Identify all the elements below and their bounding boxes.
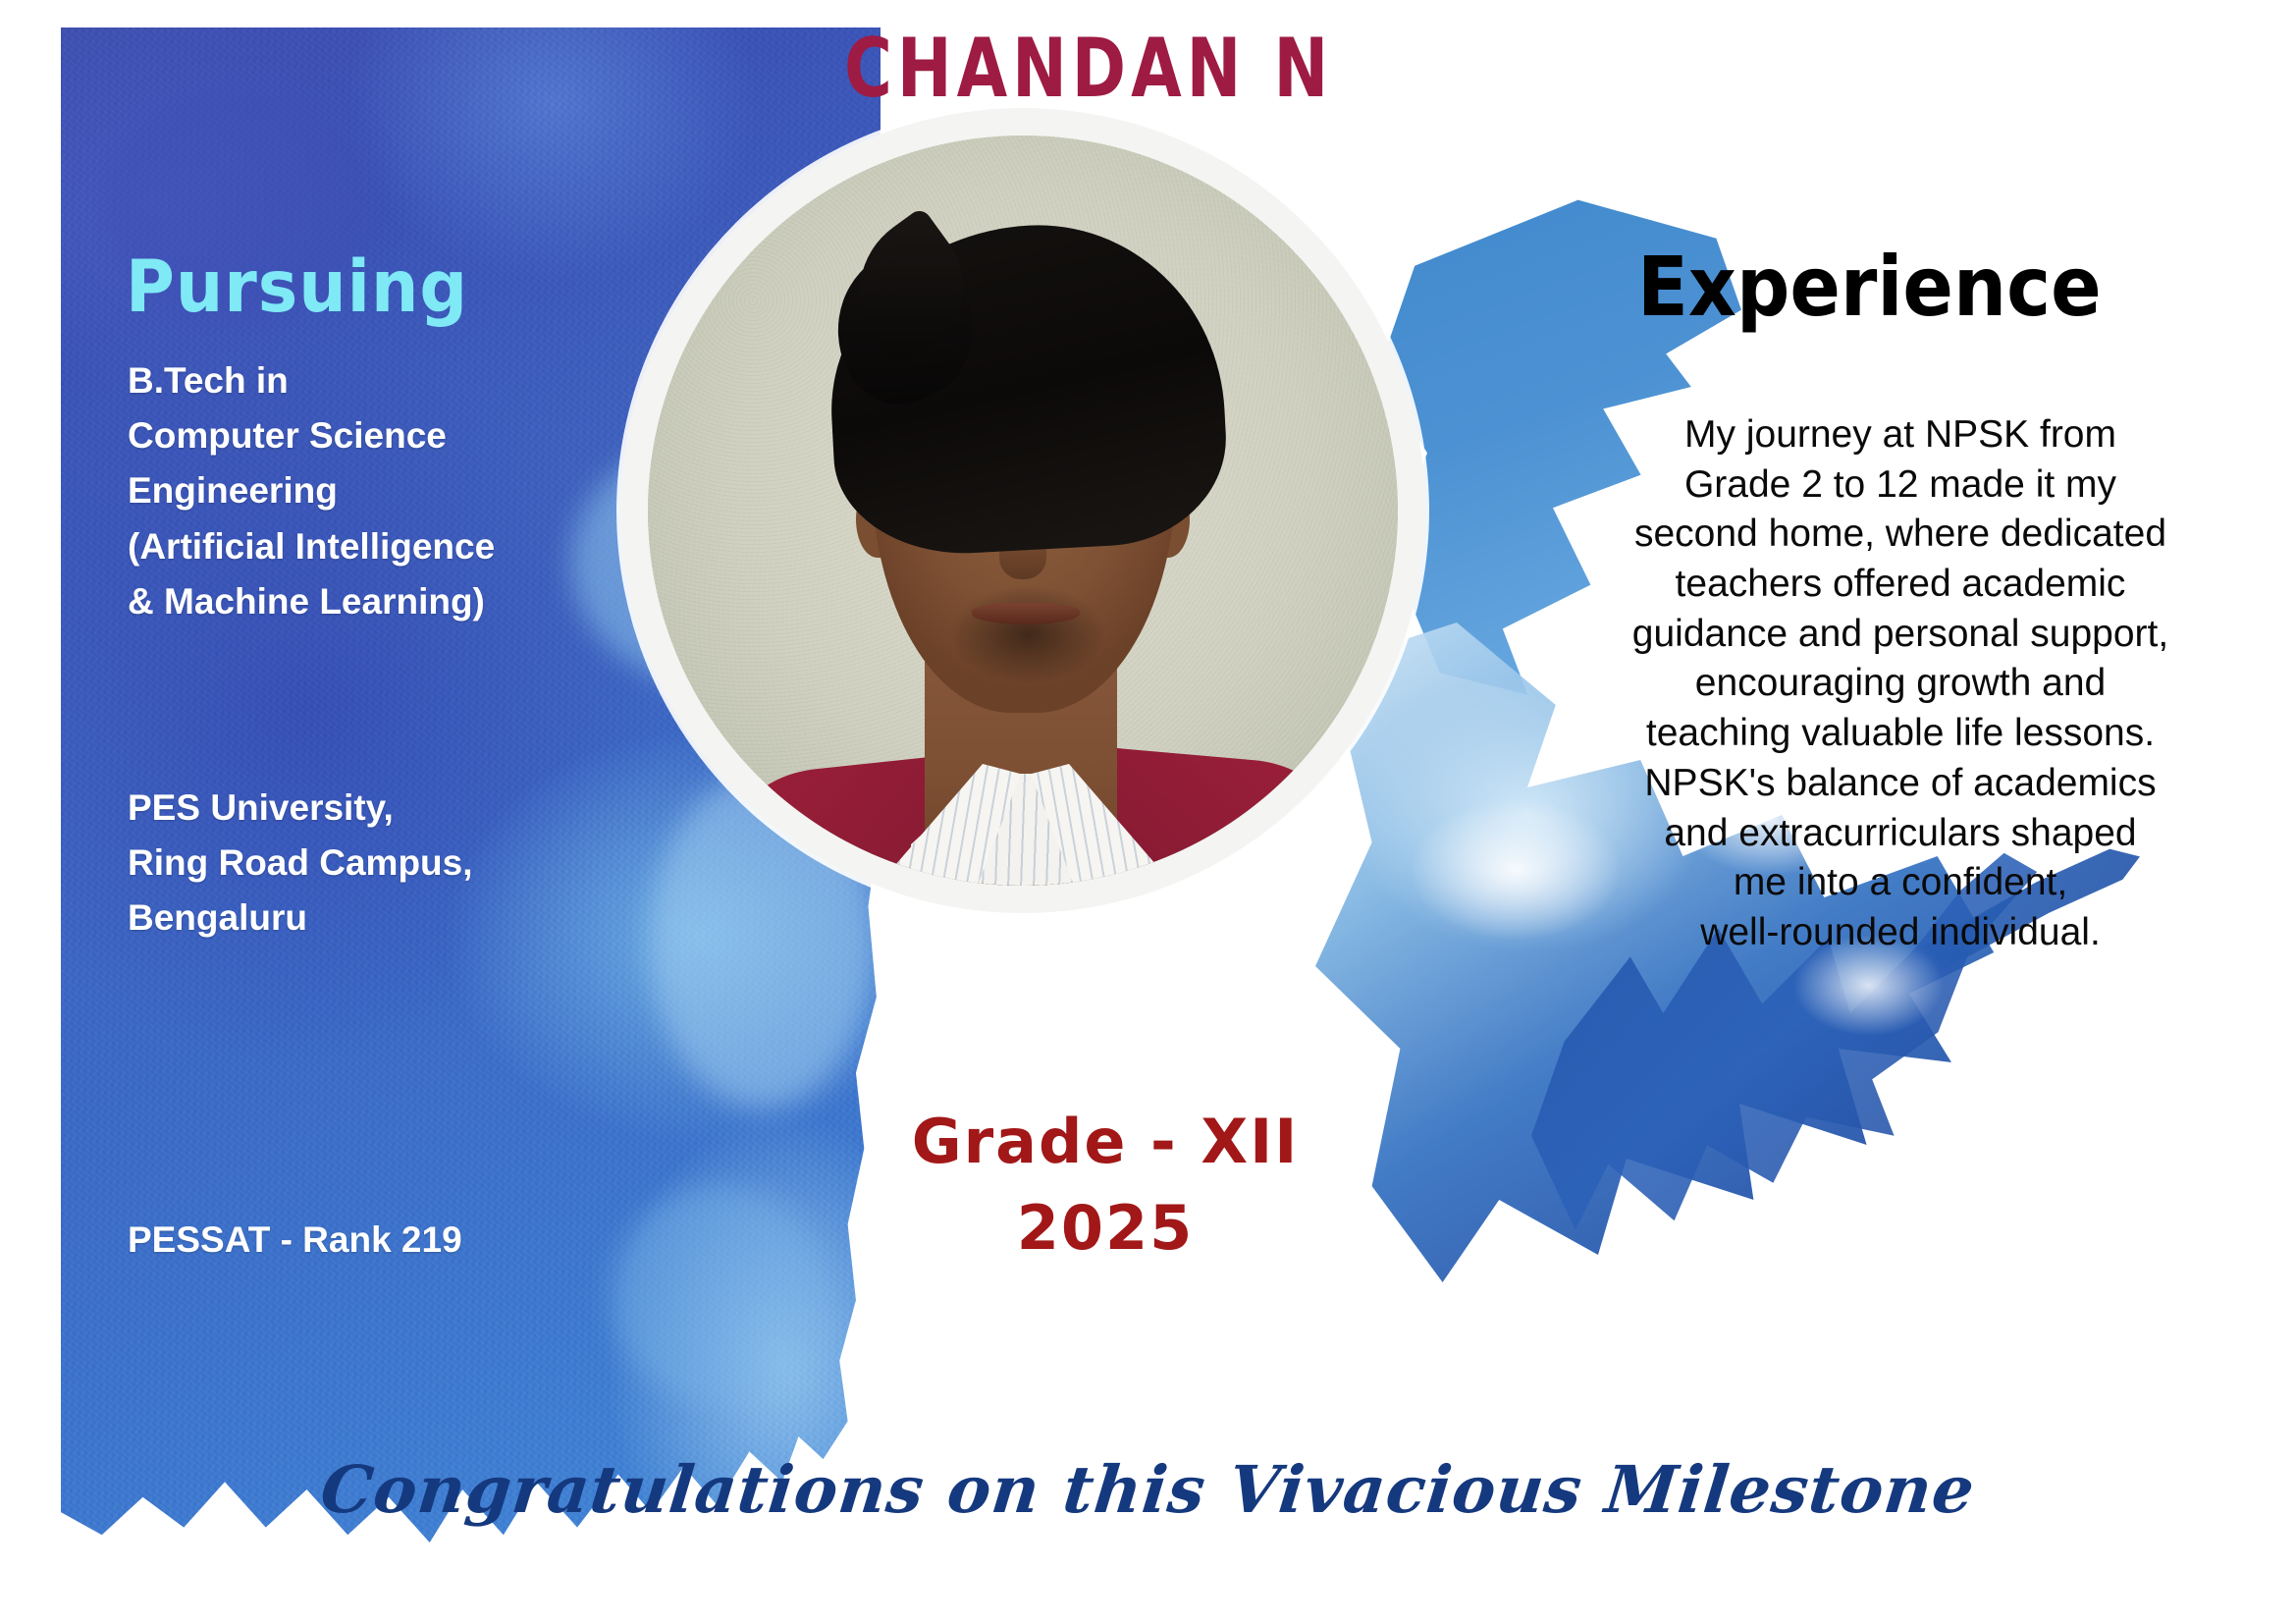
grade-label: Grade - XII <box>908 1106 1303 1177</box>
degree-line: Engineering <box>128 463 638 518</box>
experience-heading: Experience <box>1637 239 2102 335</box>
experience-line: well-rounded individual. <box>1571 908 2230 958</box>
university-line: Ring Road Campus, <box>128 836 638 891</box>
beard <box>925 579 1131 717</box>
rank-line: PESSAT - Rank 219 <box>128 1213 638 1268</box>
pursuing-heading: Pursuing <box>126 245 468 329</box>
experience-line: Grade 2 to 12 made it my <box>1571 460 2230 511</box>
university-line: Bengaluru <box>128 891 638 946</box>
degree-line: & Machine Learning) <box>128 574 638 629</box>
degree-line: B.Tech in <box>128 353 638 408</box>
congratulations-message: Congratulations on this Vivacious Milest… <box>0 1451 2296 1528</box>
experience-body: My journey at NPSK from Grade 2 to 12 ma… <box>1571 410 2230 958</box>
experience-line: My journey at NPSK from <box>1571 410 2230 460</box>
university-line: PES University, <box>128 781 638 836</box>
grade-year: 2025 <box>908 1192 1303 1264</box>
rank-badge: PESSAT - Rank 219 <box>128 1213 638 1268</box>
page-title: CHANDAN N <box>844 22 1333 116</box>
grade-white-card <box>908 972 1303 1394</box>
experience-line: second home, where dedicated <box>1571 510 2230 560</box>
mouth <box>972 603 1080 624</box>
degree-block: B.Tech in Computer Science Engineering (… <box>128 353 638 629</box>
watercolor-blot <box>611 1186 827 1402</box>
avatar <box>648 135 1398 886</box>
experience-line: me into a confident, <box>1571 858 2230 908</box>
university-block: PES University, Ring Road Campus, Bengal… <box>128 781 638 947</box>
experience-line: encouraging growth and <box>1571 659 2230 709</box>
degree-line: (Artificial Intelligence <box>128 519 638 574</box>
poster-canvas: CHANDAN N Pursuing B.Tech in Computer Sc… <box>0 0 2296 1624</box>
experience-line: and extracurriculars shaped <box>1571 809 2230 859</box>
experience-line: guidance and personal support, <box>1571 610 2230 660</box>
experience-line: teaching valuable life lessons. <box>1571 709 2230 759</box>
experience-line: NPSK's balance of academics <box>1571 759 2230 809</box>
degree-line: Computer Science <box>128 408 638 463</box>
experience-line: teachers offered academic <box>1571 560 2230 610</box>
